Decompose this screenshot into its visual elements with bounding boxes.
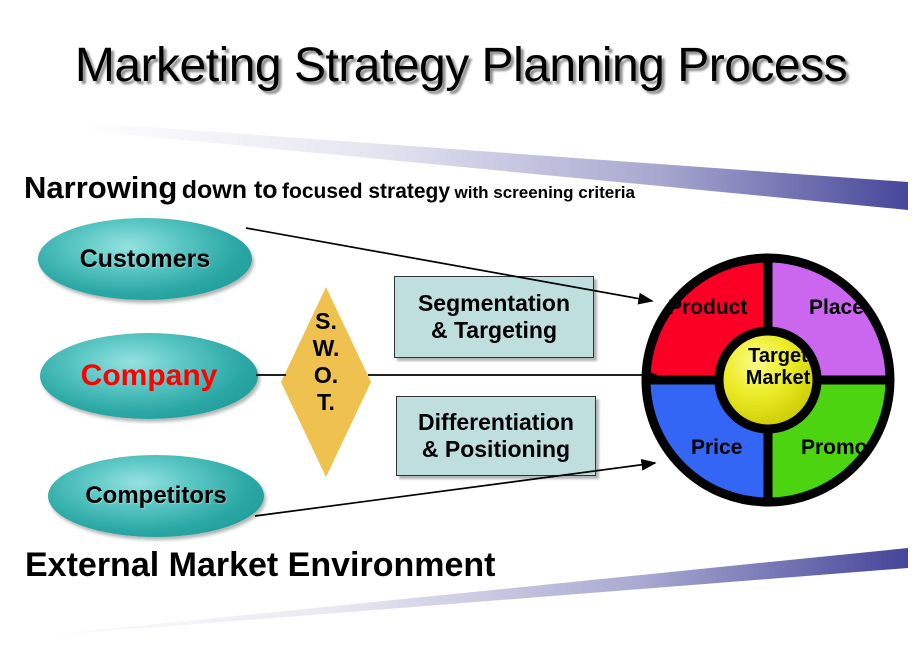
narrowing-word-1: Narrowing (24, 170, 177, 205)
node-customers[interactable]: Customers (38, 218, 252, 300)
narrowing-word-4: with screening criteria (455, 183, 635, 202)
box-differentiation-positioning[interactable]: Differentiation& Positioning (396, 396, 596, 476)
page-title: Marketing Strategy Planning Process (0, 38, 922, 93)
box-differentiation-line2: & Positioning (422, 436, 570, 462)
node-competitors-label: Competitors (85, 482, 226, 510)
four-ps-wheel[interactable] (640, 252, 896, 508)
box-differentiation-line1: Differentiation (418, 409, 574, 435)
box-segmentation-line2: & Targeting (431, 317, 557, 343)
wheel-center-hub[interactable] (719, 331, 817, 429)
swot-diamond[interactable] (281, 287, 371, 477)
node-company-label: Company (81, 359, 218, 393)
box-differentiation-label: Differentiation& Positioning (418, 409, 574, 463)
node-company[interactable]: Company (40, 333, 258, 419)
box-segmentation-targeting[interactable]: Segmentation& Targeting (394, 276, 594, 358)
external-market-environment-label: External Market Environment (25, 548, 495, 582)
box-segmentation-line1: Segmentation (418, 290, 570, 316)
box-segmentation-label: Segmentation& Targeting (418, 290, 570, 344)
slide-canvas: Marketing Strategy Planning Process Narr… (0, 0, 922, 651)
narrowing-word-2: down to (182, 176, 278, 204)
node-customers-label: Customers (80, 245, 211, 274)
narrowing-banner: Narrowing down to focused strategy with … (24, 172, 635, 203)
node-competitors[interactable]: Competitors (48, 455, 264, 537)
narrowing-word-3: focused strategy (282, 180, 450, 203)
